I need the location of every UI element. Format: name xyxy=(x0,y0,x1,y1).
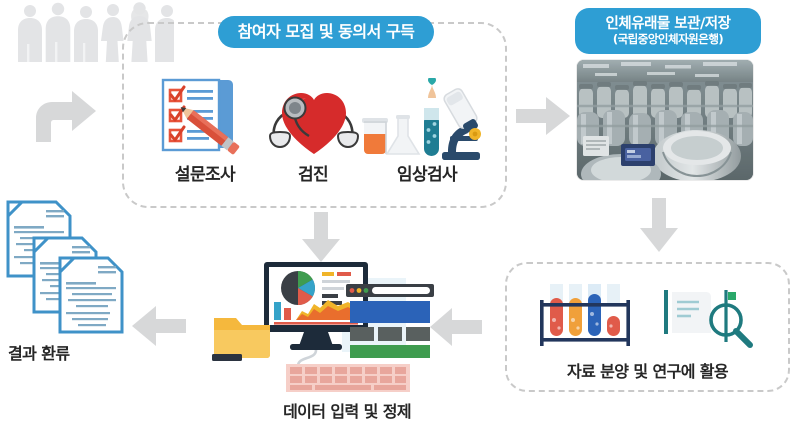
clipboard-checklist-icon xyxy=(152,72,256,164)
caption-examination: 검진 xyxy=(258,160,368,185)
arrow-storage-to-utilize xyxy=(640,198,678,256)
microscope-lab-icon xyxy=(358,78,482,170)
caption-survey: 설문조사 xyxy=(150,160,260,185)
caption-clinical-test: 임상검사 xyxy=(367,160,487,185)
test-tube-rack-icon xyxy=(540,284,630,354)
folder-icon xyxy=(212,310,272,366)
caption-data-entry: 데이터 입력 및 정제 xyxy=(222,398,472,422)
recruitment-stage-pill: 참여자 모집 및 동의서 구득 xyxy=(218,16,434,48)
heart-stethoscope-icon xyxy=(266,82,362,166)
caption-utilization: 자료 분양 및 연구에 활용 xyxy=(505,358,790,382)
storage-stage-pill: 인체유래물 보관/저장 (국립중앙인체자원은행) xyxy=(575,8,761,54)
storage-pill-line2: (국립중앙인체자원은행) xyxy=(613,33,723,46)
storage-pill-line1: 인체유래물 보관/저장 xyxy=(606,16,731,33)
desktop-dashboard-icon xyxy=(246,256,438,396)
cryogenic-storage-tanks-photo xyxy=(577,60,753,180)
workflow-diagram: 참여자 모집 및 동의서 구득 xyxy=(0,0,795,427)
book-magnifier-icon xyxy=(662,288,754,354)
arrow-recruit-to-storage xyxy=(516,97,570,139)
document-stack-icon xyxy=(2,192,126,338)
recruitment-pill-label: 참여자 모집 및 동의서 구득 xyxy=(238,23,415,41)
caption-feedback: 결과 환류 xyxy=(8,340,148,364)
arrow-people-to-recruit xyxy=(30,88,100,150)
